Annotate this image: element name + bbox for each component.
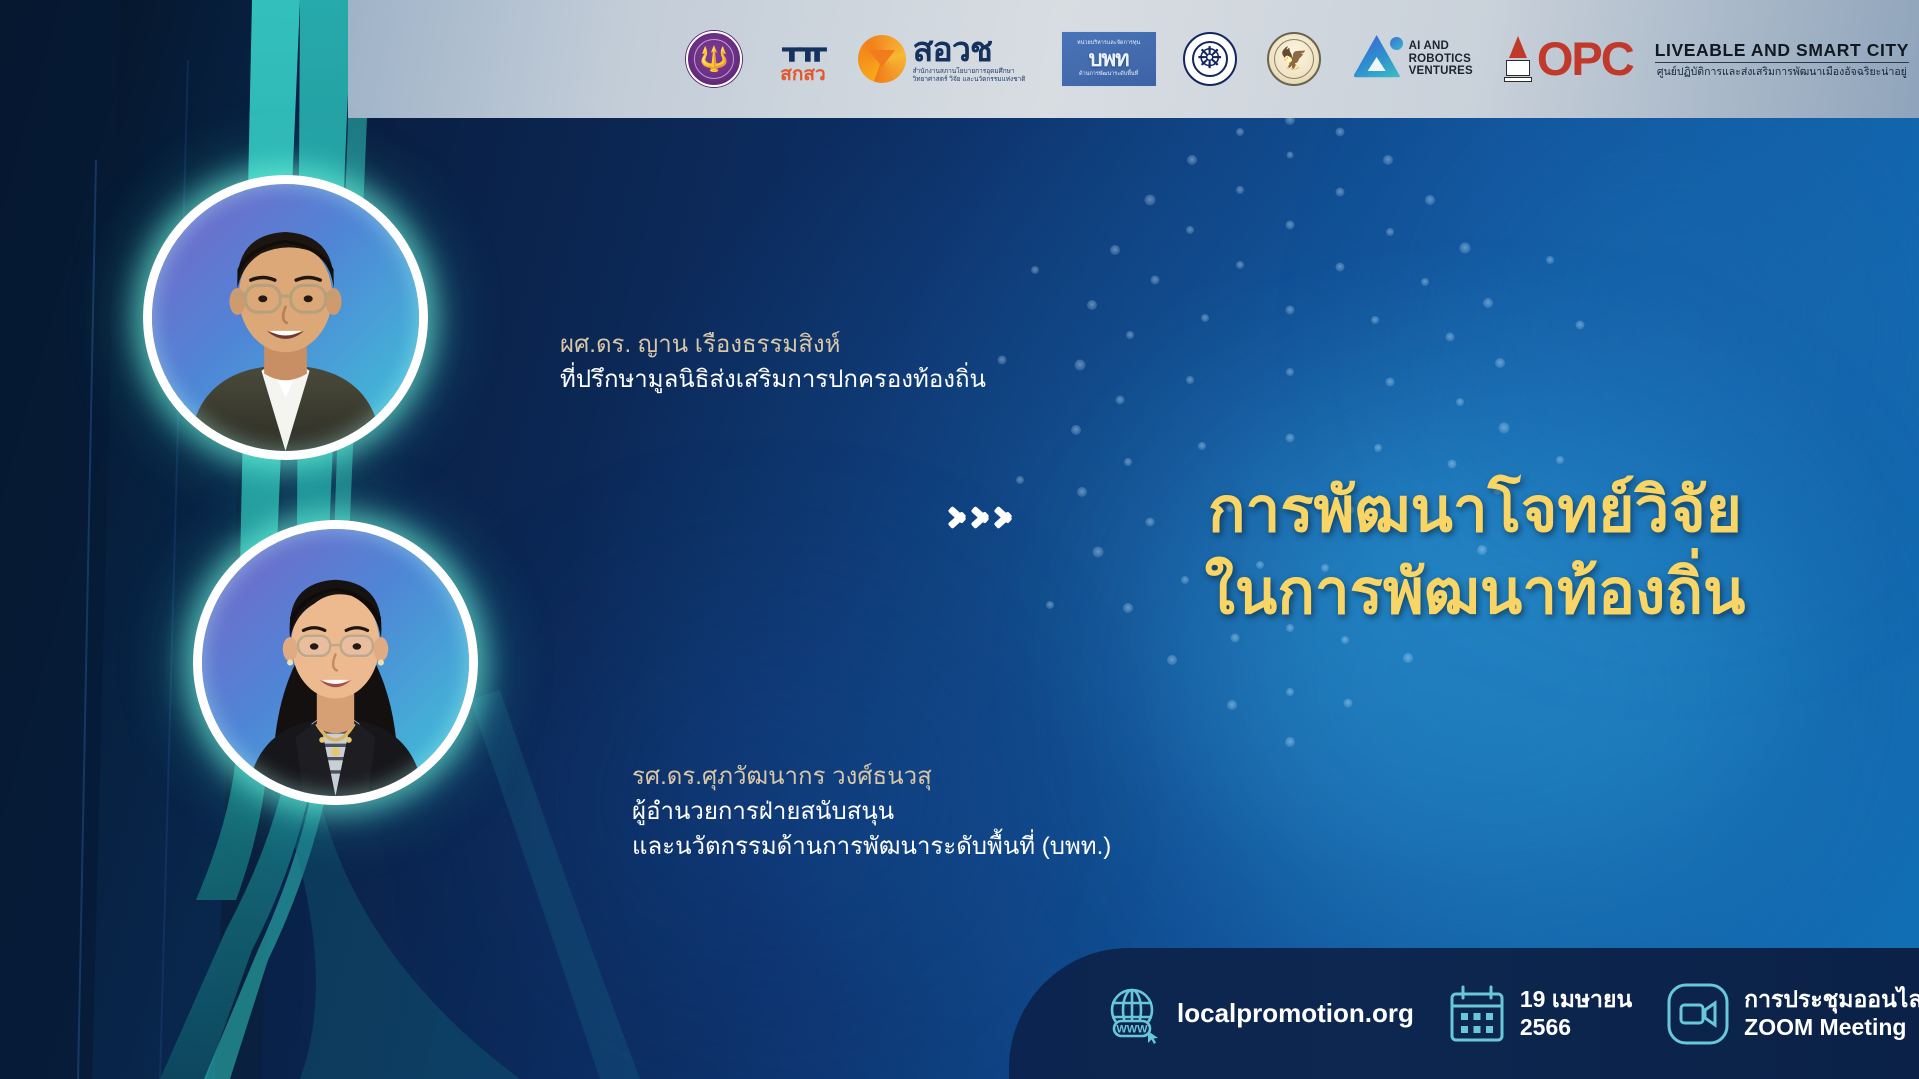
logo-garuda-seal: [1267, 32, 1353, 86]
video-camera-icon: [1666, 982, 1730, 1046]
globe-www-icon: WWW: [1101, 983, 1163, 1045]
logo-chulalongkorn-seal: [686, 31, 780, 87]
sowop-swirl-icon: [858, 35, 906, 83]
logo-wheel-seal: [1183, 32, 1267, 86]
chevron-right-icon-1: [948, 497, 968, 535]
chulalongkorn-seal-icon: [686, 31, 742, 87]
footer-meeting-item: การประชุมออนไลน์ ZOOM Meeting: [1666, 982, 1919, 1046]
dharma-wheel-icon: [1183, 32, 1237, 86]
footer-date-line-2: 2566: [1520, 1014, 1571, 1040]
main-title: การพัฒนาโจทย์วิจัย ในการพัฒนาท้องถิ่น: [1075, 470, 1875, 634]
arv-triangle-icon: [1353, 35, 1401, 83]
speaker-1-avatar: [143, 175, 428, 460]
lsc-title: LIVEABLE AND SMART CITY: [1655, 40, 1909, 63]
speaker-1-name: ผศ.ดร. ญาน เรืองธรรมสิงห์: [560, 328, 986, 363]
speaker-1-photo: [152, 184, 419, 451]
speaker-2-avatar: [193, 520, 478, 805]
dotted-globe-pattern: [940, 60, 1640, 820]
speaker-2-role-2: และนวัตกรรมด้านการพัฒนาระดับพื้นที่ (บพท…: [632, 830, 1111, 865]
calendar-icon: [1448, 984, 1506, 1044]
speaker-2-role-1: ผู้อำนวยการฝ่ายสนับสนุน: [632, 795, 1111, 830]
sowop-subtitle: สำนักงานสภานโยบายการอุดมศึกษา วิทยาศาสตร…: [913, 68, 1033, 84]
footer-website-item[interactable]: WWW localpromotion.org: [1101, 983, 1414, 1045]
sowop-title: สอวช: [913, 34, 1033, 66]
speaker-2-photo: [202, 529, 469, 796]
logo-opc: OPC: [1503, 36, 1633, 82]
speaker-1-info: ผศ.ดร. ญาน เรืองธรรมสิงห์ ที่ปรึกษามูลนิ…: [560, 328, 986, 398]
speaker-2-name: รศ.ดร.ศุภวัฒนากร วงศ์ธนวสุ: [632, 760, 1111, 795]
sakasw-mark-icon: ᚁᚂ: [782, 34, 823, 64]
footer-info-bar: WWW localpromotion.org: [1009, 948, 1919, 1079]
pagoda-icon: [1503, 36, 1533, 82]
logo-liveable-smart-city: LIVEABLE AND SMART CITY ศูนย์ปฏิบัติการแ…: [1655, 40, 1909, 79]
poster-canvas: ᚁᚂ สกสว สอวช สำนักงานสภานโยบายการอุดมศึก…: [0, 0, 1919, 1079]
sakasw-label: สกสว: [780, 65, 825, 85]
footer-meeting-line-2: ZOOM Meeting: [1744, 1014, 1906, 1040]
arv-line-2: ROBOTICS: [1409, 53, 1473, 66]
logo-bpt: หน่วยบริหารและจัดการทุน บพท ด้านการพัฒนา…: [1061, 31, 1157, 87]
arv-line-1: AI AND: [1409, 40, 1473, 53]
speaker-2-info: รศ.ดร.ศุภวัฒนากร วงศ์ธนวสุ ผู้อำนวยการฝ่…: [632, 760, 1111, 864]
footer-website-text: localpromotion.org: [1177, 998, 1414, 1028]
chevron-right-icon-group: [948, 497, 1014, 535]
bpt-mark: บพท: [1089, 48, 1129, 70]
footer-meeting-line-1: การประชุมออนไลน์: [1744, 986, 1919, 1012]
lsc-subtitle: ศูนย์ปฏิบัติการและส่งเสริมการพัฒนาเมืองอ…: [1657, 63, 1907, 79]
arv-line-3: VENTURES: [1409, 65, 1473, 78]
sponsor-logo-bar: ᚁᚂ สกสว สอวช สำนักงานสภานโยบายการอุดมศึก…: [348, 0, 1919, 118]
logo-sakasw: ᚁᚂ สกสว: [780, 34, 825, 85]
speaker-1-role-1: ที่ปรึกษามูลนิธิส่งเสริมการปกครองท้องถิ่…: [560, 363, 986, 398]
logo-sowop: สอวช สำนักงานสภานโยบายการอุดมศึกษา วิทยา…: [858, 34, 1033, 85]
main-title-line-2: ในการพัฒนาท้องถิ่น: [1075, 552, 1875, 634]
footer-date-item: 19 เมษายน 2566: [1448, 984, 1632, 1044]
logo-ai-robotics-ventures: AI AND ROBOTICS VENTURES: [1353, 35, 1473, 83]
garuda-seal-icon: [1267, 32, 1321, 86]
footer-date-line-1: 19 เมษายน: [1520, 986, 1632, 1012]
svg-text:WWW: WWW: [1116, 1023, 1148, 1035]
chevron-right-icon-2: [971, 497, 991, 535]
opc-wordmark: OPC: [1537, 39, 1633, 79]
chevron-right-icon-3: [994, 497, 1014, 535]
main-title-line-1: การพัฒนาโจทย์วิจัย: [1075, 470, 1875, 552]
bpt-bottom-text: ด้านการพัฒนาระดับพื้นที่: [1079, 72, 1138, 78]
